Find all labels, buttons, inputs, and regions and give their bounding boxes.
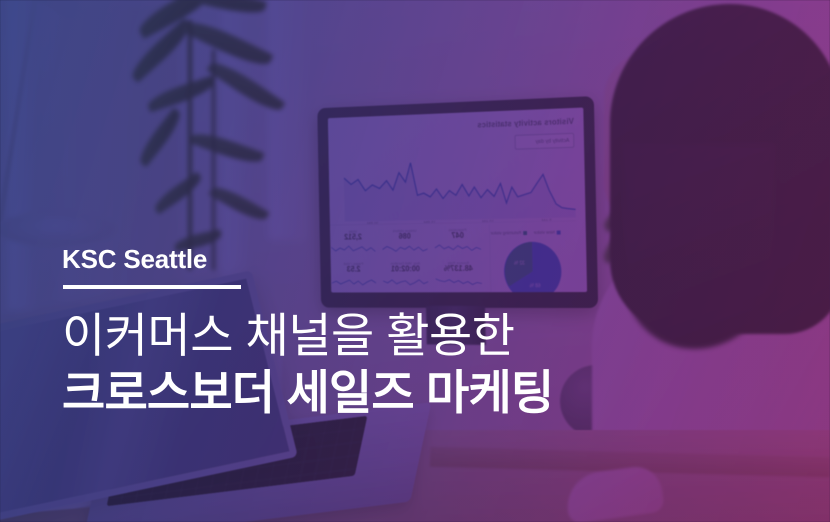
banner-text-block: KSC Seattle 이커머스 채널을 활용한 크로스보더 세일즈 마케팅 xyxy=(62,246,762,421)
banner-title-line-1: 이커머스 채널을 활용한 xyxy=(62,308,762,363)
banner-title-line-2: 크로스보더 세일즈 마케팅 xyxy=(62,365,762,420)
promo-banner: Visitors activity statistics Activity by… xyxy=(0,0,830,522)
eyebrow-underline xyxy=(63,285,241,289)
banner-eyebrow: KSC Seattle xyxy=(62,246,762,272)
